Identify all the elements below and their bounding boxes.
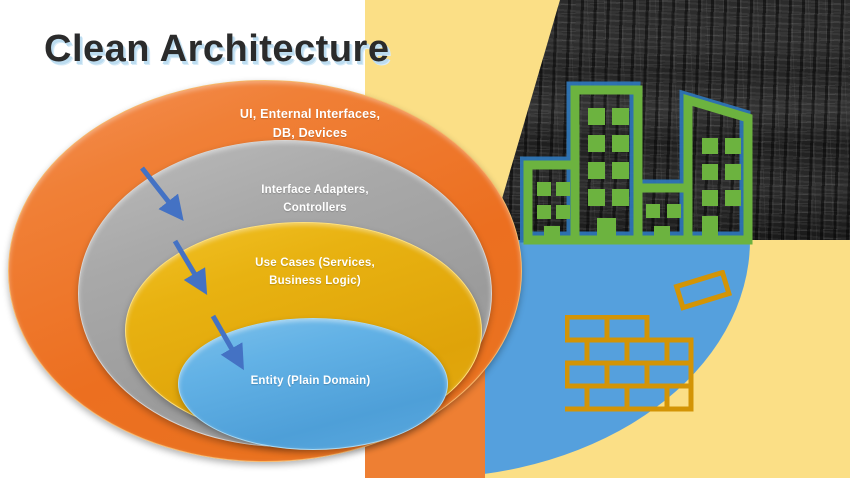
slide-canvas: UI, Enternal Interfaces, DB, Devices Int…: [0, 0, 850, 478]
brick-wall-icon: [565, 315, 715, 445]
dependency-arrow-2: [165, 235, 235, 315]
dependency-arrow-1: [130, 160, 200, 240]
city-buildings-icon: [520, 70, 820, 320]
loose-brick-icon: [672, 270, 734, 312]
page-title: Clean Architecture: [44, 28, 389, 71]
dependency-arrow-3: [205, 310, 275, 390]
